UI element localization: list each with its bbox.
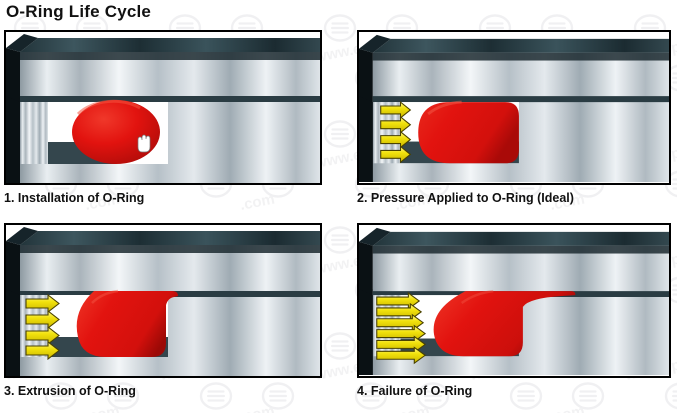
page-title: O-Ring Life Cycle <box>6 2 151 22</box>
oring-installation-diagram <box>6 32 320 183</box>
panel-illustration-2 <box>357 30 671 185</box>
figure-caption-4: 4. Failure of O-Ring <box>357 384 671 398</box>
oring-extrusion-diagram <box>6 225 320 376</box>
panel-illustration-4 <box>357 223 671 378</box>
figure-pressure-applied: 2. Pressure Applied to O-Ring (Ideal) <box>357 30 671 205</box>
figure-caption-2: 2. Pressure Applied to O-Ring (Ideal) <box>357 191 671 205</box>
hand-cursor <box>138 135 150 152</box>
figure-failure: 4. Failure of O-Ring <box>357 223 671 398</box>
panel-illustration-1 <box>4 30 322 185</box>
figure-caption-1: 1. Installation of O-Ring <box>4 191 322 205</box>
oring-pressure-diagram <box>359 32 669 183</box>
figure-installation: 1. Installation of O-Ring <box>4 30 322 205</box>
figure-caption-3: 3. Extrusion of O-Ring <box>4 384 322 398</box>
oring-failure-diagram <box>359 225 669 376</box>
figure-extrusion: 3. Extrusion of O-Ring <box>4 223 322 398</box>
panel-illustration-3 <box>4 223 322 378</box>
